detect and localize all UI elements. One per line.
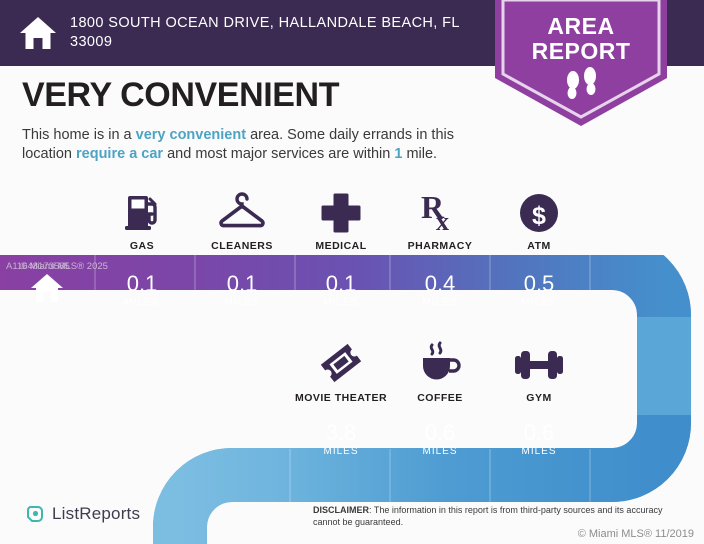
amenity-label: MOVIE THEATER — [291, 392, 391, 404]
disclaimer-label: DISCLAIMER — [313, 505, 369, 515]
amenity-icon-row-1: GAS CLEANERS MEDICAL R x PHARMACY — [0, 188, 704, 250]
home-icon — [18, 14, 58, 52]
badge-line-2: REPORT — [495, 39, 667, 64]
home-marker-icon — [30, 272, 64, 304]
atm-dollar-icon: $ — [489, 188, 589, 234]
badge-line-1: AREA — [495, 14, 667, 39]
distance-movie-theater: 3.8 MILES — [291, 421, 391, 457]
blurb-highlight-2: require a car — [76, 146, 163, 162]
amenity-label: PHARMACY — [390, 240, 490, 252]
distance-value: 0.1 — [192, 272, 292, 296]
distance-unit: MILES — [291, 446, 391, 457]
svg-text:$: $ — [532, 202, 546, 230]
distance-value: 3.8 — [291, 421, 391, 445]
distance-unit: MILES — [92, 297, 192, 308]
distance-value: 0.1 — [92, 272, 192, 296]
summary-text: This home is in a very convenient area. … — [22, 126, 502, 164]
amenity-medical: MEDICAL — [291, 188, 391, 252]
amenity-label: GYM — [489, 392, 589, 404]
amenity-cleaners: CLEANERS — [192, 188, 292, 252]
distance-pharmacy: 0.4 MILES — [390, 272, 490, 308]
property-address: 1800 SOUTH OCEAN DRIVE, HALLANDALE BEACH… — [70, 14, 490, 52]
blurb-part-4: mile. — [402, 146, 437, 162]
amenity-label: COFFEE — [390, 392, 490, 404]
medical-cross-icon — [291, 188, 391, 234]
amenity-atm: $ ATM — [489, 188, 589, 252]
badge-text: AREA REPORT — [495, 14, 667, 64]
distance-unit: MILES — [489, 446, 589, 457]
amenity-label: GAS — [92, 240, 192, 252]
disclaimer: DISCLAIMER: The information in this repo… — [313, 505, 691, 528]
distance-value: 0.4 — [390, 272, 490, 296]
distance-coffee: 0.6 MILES — [390, 421, 490, 457]
svg-text:x: x — [436, 207, 449, 234]
amenity-gas: GAS — [92, 188, 192, 252]
distance-unit: MILES — [192, 297, 292, 308]
amenity-label: MEDICAL — [291, 240, 391, 252]
distance-unit: MILES — [489, 297, 589, 308]
distance-unit: MILES — [291, 297, 391, 308]
blurb-part-1: This home is in a — [22, 127, 136, 143]
amenity-label: ATM — [489, 240, 589, 252]
distance-value: 0.1 — [291, 272, 391, 296]
distance-gym: 0.6 MILES — [489, 421, 589, 457]
distance-value: 0.6 — [390, 421, 490, 445]
watermark-copyright: © Miami MLS® 2025 — [20, 261, 108, 272]
amenity-icon-row-2: MOVIE THEATER COFFEE GYM — [0, 340, 704, 402]
distance-medical: 0.1 MILES — [291, 272, 391, 308]
coffee-cup-icon — [390, 340, 490, 386]
listreports-logo-text: ListReports — [52, 504, 140, 524]
distance-gas: 0.1 MILES — [92, 272, 192, 308]
amenity-label: CLEANERS — [192, 240, 292, 252]
amenity-coffee: COFFEE — [390, 340, 490, 404]
blurb-highlight-1: very convenient — [136, 127, 246, 143]
listreports-logo: ListReports — [24, 503, 140, 525]
dumbbell-icon — [489, 340, 589, 386]
blurb-part-3: and most major services are within — [163, 146, 394, 162]
distance-unit: MILES — [390, 297, 490, 308]
gas-pump-icon — [92, 188, 192, 234]
amenity-gym: GYM — [489, 340, 589, 404]
amenity-pharmacy: R x PHARMACY — [390, 188, 490, 252]
distance-atm: 0.5 MILES — [489, 272, 589, 308]
movie-ticket-icon — [291, 340, 391, 386]
distance-unit: MILES — [390, 446, 490, 457]
page-title: VERY CONVENIENT — [22, 76, 339, 115]
distance-cleaners: 0.1 MILES — [192, 272, 292, 308]
distance-value: 0.6 — [489, 421, 589, 445]
mls-watermark: A11648173585 © Miami MLS® 2025 — [6, 261, 70, 272]
copyright-notice: © Miami MLS® 11/2019 — [578, 528, 694, 540]
listreports-pin-icon — [24, 503, 46, 525]
amenity-movie-theater: MOVIE THEATER — [291, 340, 391, 404]
area-report-badge: AREA REPORT — [495, 0, 667, 130]
hanger-icon — [192, 188, 292, 234]
rx-icon: R x — [390, 188, 490, 234]
distance-value: 0.5 — [489, 272, 589, 296]
